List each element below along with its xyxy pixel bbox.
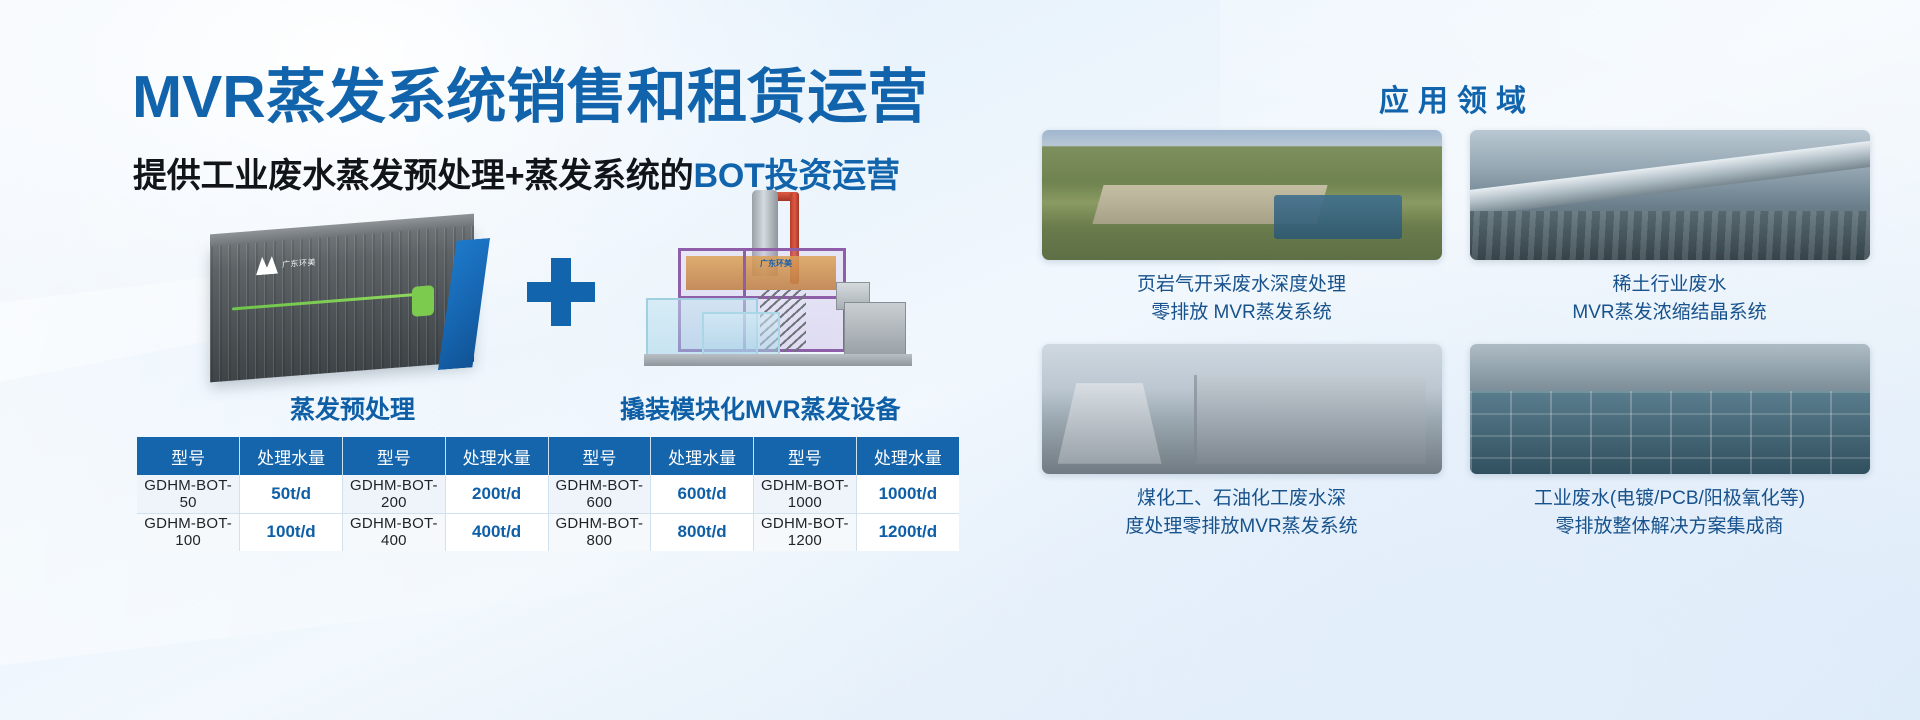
application-card-rare-earth[interactable]: 稀土行业废水 MVR蒸发浓缩结晶系统 [1470, 130, 1870, 326]
application-caption: 页岩气开采废水深度处理 零排放 MVR蒸发系统 [1042, 271, 1442, 326]
spec-header-cell: 处理水量 [240, 437, 343, 475]
application-caption-line2: MVR蒸发浓缩结晶系统 [1470, 299, 1870, 327]
spec-flow-cell: 200t/d [445, 475, 548, 513]
rare-earth-pipes-image [1470, 130, 1870, 260]
rare-earth-pipes-photo [1470, 130, 1870, 260]
spec-flow-cell: 1000t/d [856, 475, 959, 513]
evaporation-pretreatment-caption: 蒸发预处理 [290, 390, 415, 426]
table-row: GDHM-BOT-100 100t/d GDHM-BOT-400 400t/d … [137, 513, 959, 551]
page-title: MVR蒸发系统销售和租赁运营 [132, 66, 928, 129]
spec-flow-cell: 50t/d [240, 475, 343, 513]
subtitle-plain-text: 提供工业废水蒸发预处理+蒸发系统的 [133, 157, 693, 195]
application-caption-line1: 工业废水(电镀/PCB/阳极氧化等) [1470, 485, 1870, 513]
application-caption-line2: 零排放 MVR蒸发系统 [1042, 299, 1442, 327]
spec-header-cell: 型号 [137, 437, 240, 475]
spec-model-cell: GDHM-BOT-1200 [754, 513, 857, 551]
spec-flow-cell: 100t/d [240, 513, 343, 551]
applications-row: 页岩气开采废水深度处理 零排放 MVR蒸发系统 稀土行业废水 MVR蒸发浓缩结晶… [993, 130, 1918, 326]
industrial-wastewater-tanks-photo [1470, 344, 1870, 474]
skid-illustration: 广东环美 [640, 186, 930, 398]
application-caption-line1: 煤化工、石油化工废水深 [1042, 485, 1442, 513]
spec-header-cell: 处理水量 [856, 437, 959, 475]
spec-model-cell: GDHM-BOT-50 [137, 475, 240, 513]
application-caption-line2: 度处理零排放MVR蒸发系统 [1042, 513, 1442, 541]
spec-model-cell: GDHM-BOT-600 [548, 475, 651, 513]
spec-model-cell: GDHM-BOT-1000 [754, 475, 857, 513]
brand-logo-text: 广东环美 [282, 256, 316, 270]
industrial-wastewater-tanks-image [1470, 344, 1870, 474]
skid-glass-tank-2 [702, 312, 780, 360]
spec-model-cell: GDHM-BOT-100 [137, 513, 240, 551]
application-card-shale-gas[interactable]: 页岩气开采废水深度处理 零排放 MVR蒸发系统 [1042, 130, 1442, 326]
evaporation-pretreatment-image: 广东环美 [196, 222, 506, 397]
application-card-industrial-wastewater[interactable]: 工业废水(电镀/PCB/阳极氧化等) 零排放整体解决方案集成商 [1470, 344, 1870, 540]
spec-table: 型号 处理水量 型号 处理水量 型号 处理水量 型号 处理水量 GDHM-BOT… [137, 437, 959, 551]
shale-gas-field-photo [1042, 130, 1442, 260]
hero-left-panel: MVR蒸发系统销售和租赁运营 提供工业废水蒸发预处理+蒸发系统的BOT投资运营 … [0, 0, 985, 720]
spec-flow-cell: 800t/d [651, 513, 754, 551]
spec-flow-cell: 600t/d [651, 475, 754, 513]
container-green-panel [412, 285, 434, 317]
application-caption-line1: 页岩气开采废水深度处理 [1042, 271, 1442, 299]
container-illustration: 广东环美 [196, 222, 506, 397]
applications-grid: 页岩气开采废水深度处理 零排放 MVR蒸发系统 稀土行业废水 MVR蒸发浓缩结晶… [993, 130, 1918, 540]
coal-chemical-plant-photo [1042, 344, 1442, 474]
spec-header-cell: 型号 [343, 437, 446, 475]
application-card-coal-chemical[interactable]: 煤化工、石油化工废水深 度处理零排放MVR蒸发系统 [1042, 344, 1442, 540]
spec-model-cell: GDHM-BOT-400 [343, 513, 446, 551]
spec-table-wrapper: 型号 处理水量 型号 处理水量 型号 处理水量 型号 处理水量 GDHM-BOT… [137, 437, 959, 551]
brand-mark-icon [256, 256, 278, 276]
skid-base-platform [644, 354, 912, 366]
container-ribs [210, 226, 474, 383]
spec-header-cell: 型号 [754, 437, 857, 475]
banner-stage: MVR蒸发系统销售和租赁运营 提供工业废水蒸发预处理+蒸发系统的BOT投资运营 … [0, 0, 1920, 720]
spec-flow-cell: 1200t/d [856, 513, 959, 551]
spec-header-cell: 型号 [548, 437, 651, 475]
application-caption-line2: 零排放整体解决方案集成商 [1470, 513, 1870, 541]
application-caption: 煤化工、石油化工废水深 度处理零排放MVR蒸发系统 [1042, 485, 1442, 540]
coal-chemical-plant-image [1042, 344, 1442, 474]
skid-mvr-equipment-caption: 撬装模块化MVR蒸发设备 [620, 390, 901, 426]
shale-gas-field-image [1042, 130, 1442, 260]
skid-mvr-equipment-image: 广东环美 [640, 186, 930, 398]
applications-title: 应用领域 [985, 76, 1920, 120]
spec-flow-cell: 400t/d [445, 513, 548, 551]
application-caption: 工业废水(电镀/PCB/阳极氧化等) 零排放整体解决方案集成商 [1470, 485, 1870, 540]
spec-model-cell: GDHM-BOT-200 [343, 475, 446, 513]
applications-panel: 应用领域 页岩气开采废水深度处理 零排放 MVR蒸发系统 [985, 0, 1920, 720]
skid-gray-unit [844, 302, 906, 356]
table-row: GDHM-BOT-50 50t/d GDHM-BOT-200 200t/d GD… [137, 475, 959, 513]
plus-icon [527, 258, 595, 326]
spec-model-cell: GDHM-BOT-800 [548, 513, 651, 551]
spec-table-header-row: 型号 处理水量 型号 处理水量 型号 处理水量 型号 处理水量 [137, 437, 959, 475]
applications-row: 煤化工、石油化工废水深 度处理零排放MVR蒸发系统 工业废水(电镀/PCB/阳极… [993, 344, 1918, 540]
application-caption-line1: 稀土行业废水 [1470, 271, 1870, 299]
plus-icon-vertical-bar [551, 258, 571, 326]
spec-header-cell: 处理水量 [445, 437, 548, 475]
skid-brand-label: 广东环美 [760, 258, 792, 269]
spec-header-cell: 处理水量 [651, 437, 754, 475]
application-caption: 稀土行业废水 MVR蒸发浓缩结晶系统 [1470, 271, 1870, 326]
